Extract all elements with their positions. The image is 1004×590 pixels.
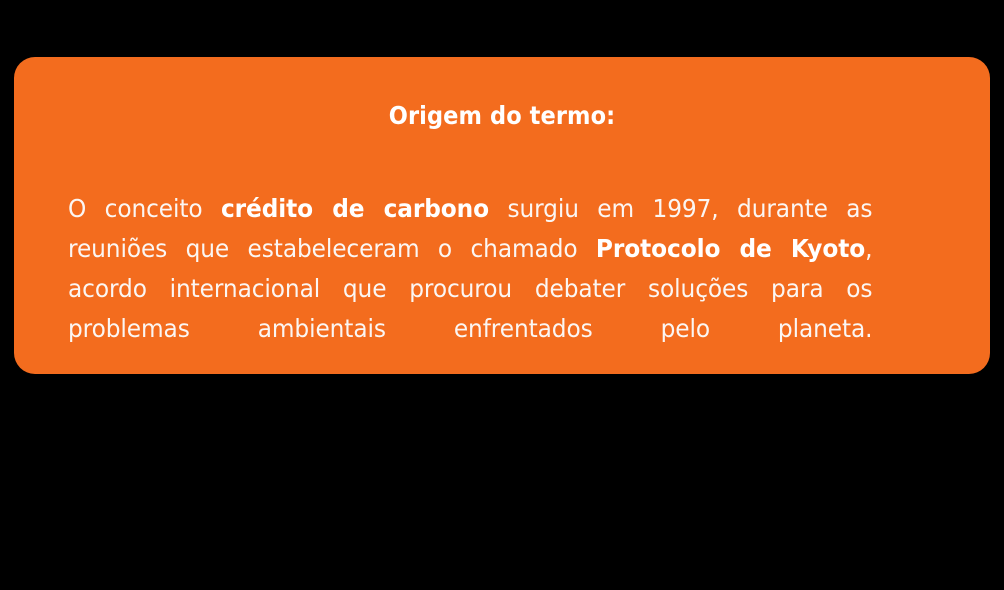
callout-body-text: O conceito crédito de carbono surgiu em … (68, 189, 872, 374)
slide-canvas: Origem do termo: O conceito crédito de c… (0, 0, 1004, 590)
body-segment-intro: O conceito (68, 194, 221, 223)
origin-callout-card: Origem do termo: O conceito crédito de c… (14, 57, 990, 374)
callout-title: Origem do termo: (63, 101, 941, 131)
body-term-credito-de-carbono: crédito de carbono (221, 194, 489, 223)
body-term-protocolo-de-kyoto: Protocolo de Kyoto (596, 234, 865, 263)
